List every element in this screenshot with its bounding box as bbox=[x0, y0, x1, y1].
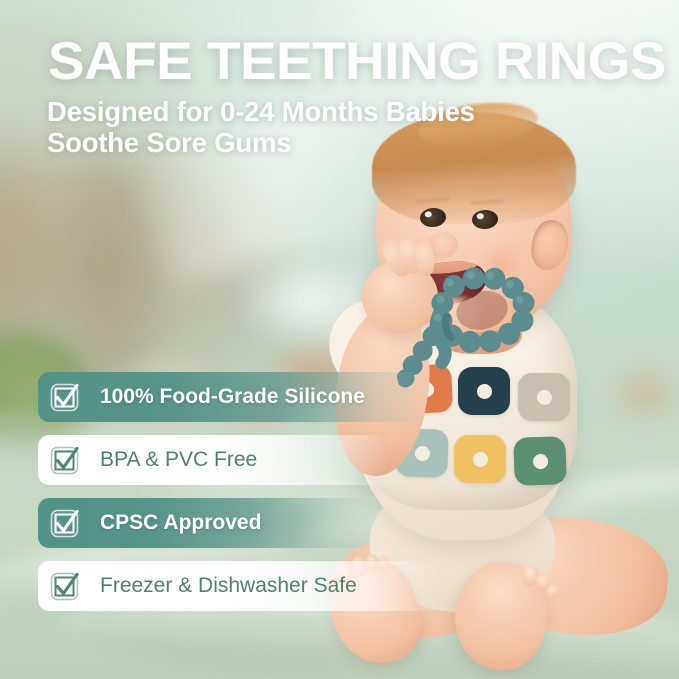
checkbox-checked-icon bbox=[47, 441, 85, 479]
feature-label: BPA & PVC Free bbox=[100, 449, 257, 471]
subtitle: Designed for 0-24 Months Babies Soothe S… bbox=[47, 96, 475, 158]
subtitle-line-1: Designed for 0-24 Months Babies bbox=[47, 96, 475, 127]
feature-label: CPSC Approved bbox=[100, 512, 261, 534]
page-title: SAFE TEETHING RINGS bbox=[48, 34, 666, 90]
feature-item-bpa-pvc-free: BPA & PVC Free bbox=[38, 435, 388, 485]
product-infographic: SAFE TEETHING RINGS Designed for 0-24 Mo… bbox=[0, 0, 679, 679]
subtitle-line-2: Soothe Sore Gums bbox=[47, 127, 475, 158]
checkbox-checked-icon bbox=[47, 504, 85, 542]
feature-item-freezer-dishwasher-safe: Freezer & Dishwasher Safe bbox=[38, 561, 438, 611]
feature-label: Freezer & Dishwasher Safe bbox=[100, 575, 357, 597]
feature-list: 100% Food-Grade Silicone BPA & PVC Free bbox=[38, 372, 558, 624]
feature-item-cpsc-approved: CPSC Approved bbox=[38, 498, 378, 548]
feature-label: 100% Food-Grade Silicone bbox=[100, 386, 365, 408]
checkbox-checked-icon bbox=[47, 378, 85, 416]
feature-item-food-grade-silicone: 100% Food-Grade Silicone bbox=[38, 372, 428, 422]
checkbox-checked-icon bbox=[47, 567, 85, 605]
